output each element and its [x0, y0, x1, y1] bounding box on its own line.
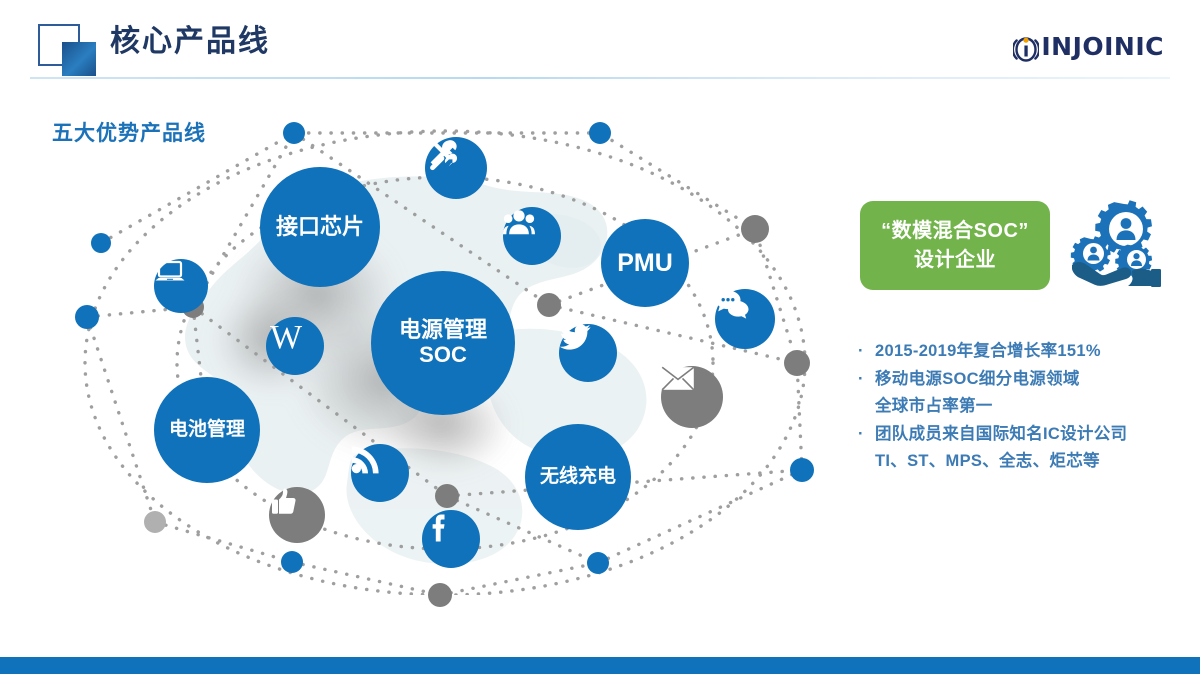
- node-right: [784, 350, 810, 376]
- bubble-twitter[interactable]: [559, 324, 617, 382]
- bubble-power-management-soc[interactable]: 电源管理 SOC: [371, 271, 515, 415]
- bullet-item-1: · 2015-2019年复合增长率151%: [858, 338, 1168, 365]
- product-line-diagram: W: [55, 125, 845, 595]
- callout-box: “数模混合SOC” 设计企业: [860, 201, 1050, 290]
- bubble-chat[interactable]: [715, 289, 775, 349]
- node-top: [283, 122, 305, 144]
- bullet-item-3: · 团队成员来自国际知名IC设计公司 TI、ST、MPS、全志、炬芯等: [858, 421, 1168, 475]
- node-left-lower: [144, 511, 166, 533]
- bubble-pmu[interactable]: PMU: [601, 219, 689, 307]
- bubble-tools[interactable]: [425, 137, 487, 199]
- callout-line2: 设计企业: [914, 246, 996, 275]
- hand-holding-gears-icon: [1062, 196, 1170, 304]
- bubble-facebook[interactable]: [422, 510, 480, 568]
- bullet-marker: ·: [858, 338, 864, 365]
- bubble-wireless-charging[interactable]: 无线充电: [525, 424, 631, 530]
- header-square-filled-decoration: [62, 42, 96, 76]
- bubble-email[interactable]: [661, 366, 723, 428]
- bubble-label-power-management-soc-line1: 电源管理: [395, 318, 491, 343]
- bubble-label-battery-management: 电池管理: [165, 419, 249, 440]
- bubble-thumbs-up[interactable]: [269, 487, 325, 543]
- injoinic-i-mark-icon: [1013, 32, 1039, 62]
- bubble-label-pmu: PMU: [613, 249, 677, 277]
- node-right-lower: [790, 458, 814, 482]
- logo-wordmark: INJOINIC: [1041, 32, 1164, 62]
- bubble-wordpress[interactable]: W: [266, 317, 324, 375]
- node-top-right: [589, 122, 611, 144]
- bullet-text: 2015-2019年复合增长率151%: [871, 338, 1168, 365]
- bullet-marker: ·: [858, 366, 864, 393]
- bullet-marker: ·: [858, 421, 864, 448]
- highlights-list: · 2015-2019年复合增长率151% · 移动电源SOC细分电源领域 全球…: [858, 338, 1168, 476]
- node-right-upper: [741, 215, 769, 243]
- node-center-lower: [435, 484, 459, 508]
- bubble-interface-chip[interactable]: 接口芯片: [260, 167, 380, 287]
- bubble-label-interface-chip: 接口芯片: [272, 215, 368, 240]
- bubble-laptop[interactable]: [154, 259, 208, 313]
- bubble-people-group[interactable]: [503, 207, 561, 265]
- node-bottom-right: [587, 552, 609, 574]
- svg-text:W: W: [270, 319, 303, 356]
- footer-bar: [0, 657, 1200, 674]
- callout-line1: “数模混合SOC”: [881, 217, 1029, 246]
- node-left: [75, 305, 99, 329]
- bullet-text-cont: TI、ST、MPS、全志、炬芯等: [871, 448, 1168, 475]
- bullet-text-cont: 全球市占率第一: [871, 393, 1168, 420]
- bullet-text: 团队成员来自国际知名IC设计公司: [871, 421, 1168, 448]
- bubble-label-wireless-charging: 无线充电: [536, 466, 620, 487]
- node-bottom: [428, 583, 452, 607]
- slide-header: 核心产品线 INJOINIC: [0, 0, 1200, 80]
- slide-root: 核心产品线 INJOINIC 五大优势产品线: [0, 0, 1200, 674]
- header-divider: [30, 77, 1170, 79]
- bubble-battery-management[interactable]: 电池管理: [154, 377, 260, 483]
- page-title: 核心产品线: [110, 22, 270, 62]
- node-mid-gray: [537, 293, 561, 317]
- node-bottom-left: [281, 551, 303, 573]
- bullet-text: 移动电源SOC细分电源领域: [871, 366, 1168, 393]
- node-left-upper: [91, 233, 111, 253]
- bubble-rss[interactable]: [351, 444, 409, 502]
- bullet-item-2: · 移动电源SOC细分电源领域 全球市占率第一: [858, 366, 1168, 420]
- company-logo: INJOINIC: [1013, 30, 1164, 64]
- bubble-label-power-management-soc-line2: SOC: [415, 343, 471, 368]
